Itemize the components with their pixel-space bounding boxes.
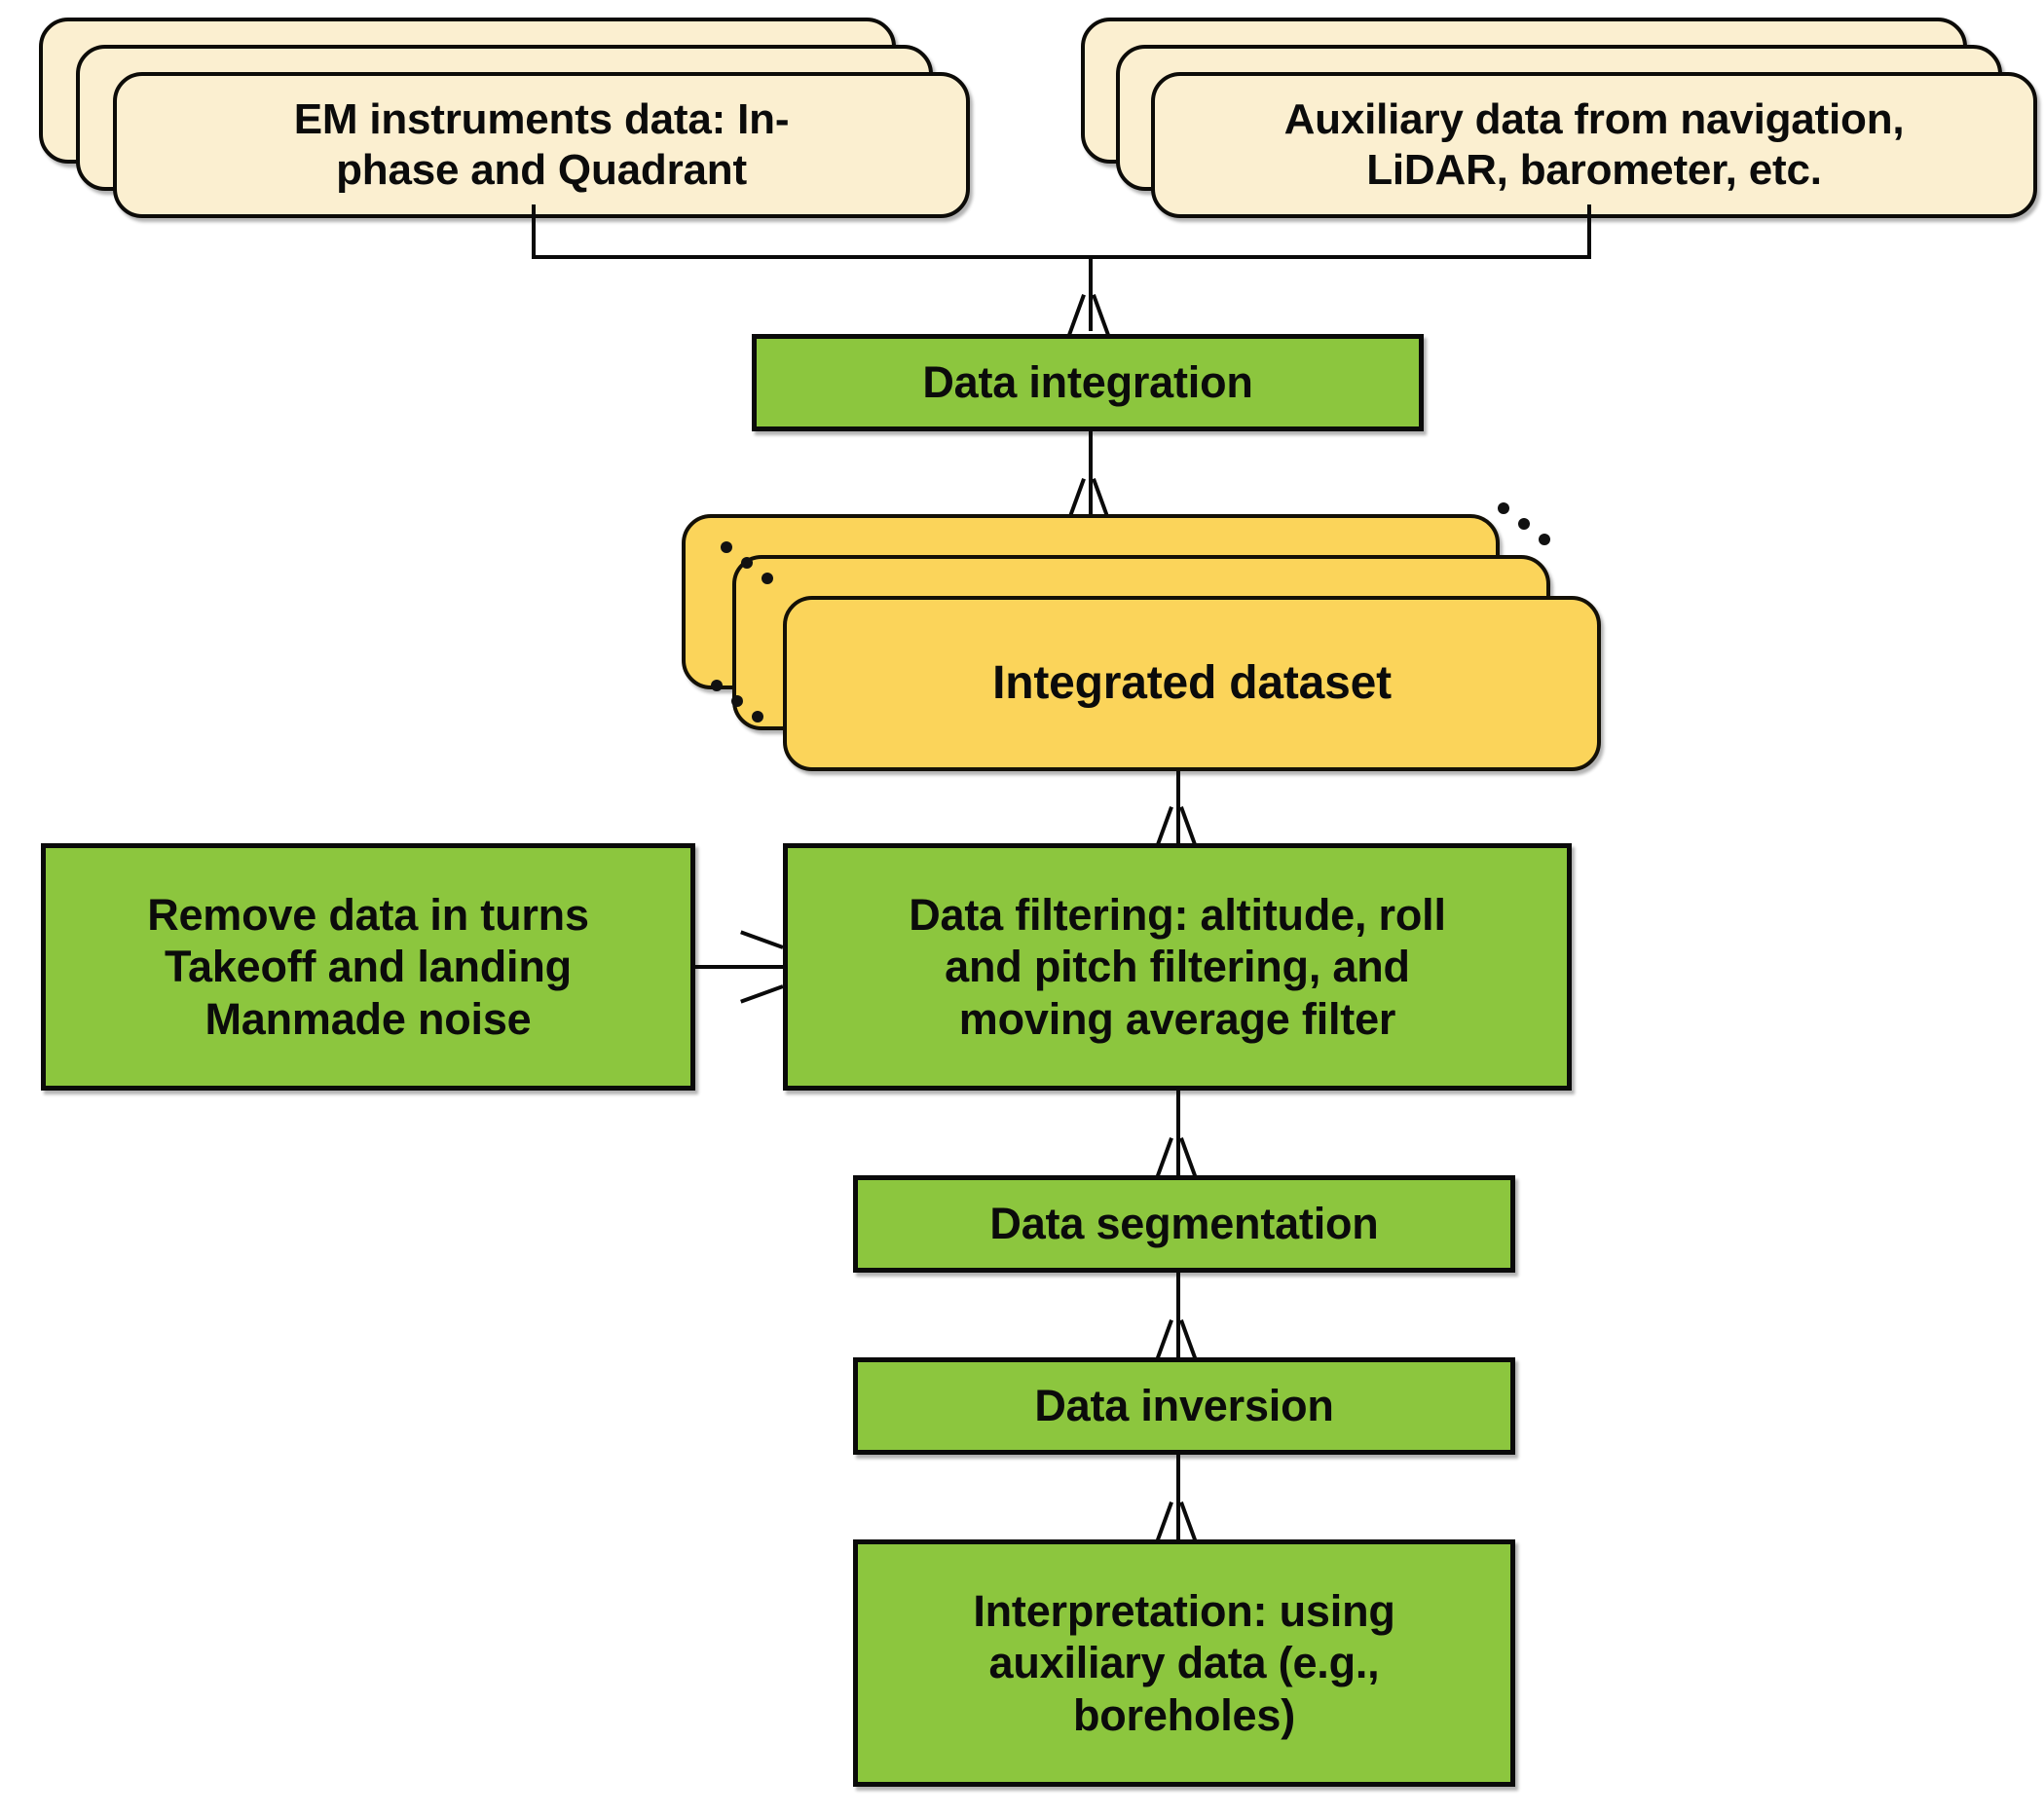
arrow-head-to-data-filtering-right <box>738 945 783 988</box>
edge-merge-bus <box>532 255 1591 259</box>
node-label-auxiliary-data: Auxiliary data from navigation, LiDAR, b… <box>1155 94 2033 196</box>
ellipsis-dots-top-left-icon <box>721 541 781 588</box>
node-data-segmentation[interactable]: Data segmentation <box>853 1175 1515 1273</box>
node-integrated-dataset[interactable]: Integrated dataset <box>682 514 1597 777</box>
card-front-layer: EM instruments data: In- phase and Quadr… <box>113 72 970 218</box>
edge-em-stub <box>532 204 536 259</box>
ellipsis-dots-top-right-icon <box>1498 502 1558 549</box>
node-label-data-inversion: Data inversion <box>858 1380 1510 1431</box>
node-label-data-filtering: Data filtering: altitude, roll and pitch… <box>788 889 1567 1044</box>
node-em-instruments-data[interactable]: EM instruments data: In- phase and Quadr… <box>39 18 993 212</box>
card-front-layer: Auxiliary data from navigation, LiDAR, b… <box>1151 72 2037 218</box>
arrow-head-to-data-filtering <box>1155 804 1198 847</box>
node-label-remove-data-criteria: Remove data in turns Takeoff and landing… <box>46 889 690 1044</box>
node-label-em-instruments-data: EM instruments data: In- phase and Quadr… <box>117 94 966 196</box>
arrow-head-to-integrated-dataset <box>1067 476 1110 519</box>
edge-aux-stub <box>1587 204 1591 259</box>
arrow-head-to-data-inversion <box>1155 1317 1198 1360</box>
node-interpretation[interactable]: Interpretation: using auxiliary data (e.… <box>853 1539 1515 1787</box>
flowchart-canvas: EM instruments data: In- phase and Quadr… <box>0 0 2044 1815</box>
node-auxiliary-data[interactable]: Auxiliary data from navigation, LiDAR, b… <box>1081 18 2035 212</box>
node-label-data-segmentation: Data segmentation <box>858 1198 1510 1249</box>
node-data-filtering[interactable]: Data filtering: altitude, roll and pitch… <box>783 843 1572 1091</box>
arrow-head-to-data-segmentation <box>1155 1135 1198 1178</box>
dataset-card-front-layer: Integrated dataset <box>783 596 1601 771</box>
node-data-inversion[interactable]: Data inversion <box>853 1357 1515 1455</box>
node-label-interpretation: Interpretation: using auxiliary data (e.… <box>858 1585 1510 1740</box>
arrow-head-to-data-integration <box>1067 292 1110 335</box>
node-remove-data-criteria[interactable]: Remove data in turns Takeoff and landing… <box>41 843 695 1091</box>
node-label-data-integration: Data integration <box>757 356 1419 408</box>
arrow-head-to-interpretation <box>1155 1500 1198 1542</box>
node-data-integration[interactable]: Data integration <box>752 334 1424 431</box>
ellipsis-dots-bottom-left-icon <box>711 680 771 726</box>
node-label-integrated-dataset: Integrated dataset <box>787 656 1597 712</box>
